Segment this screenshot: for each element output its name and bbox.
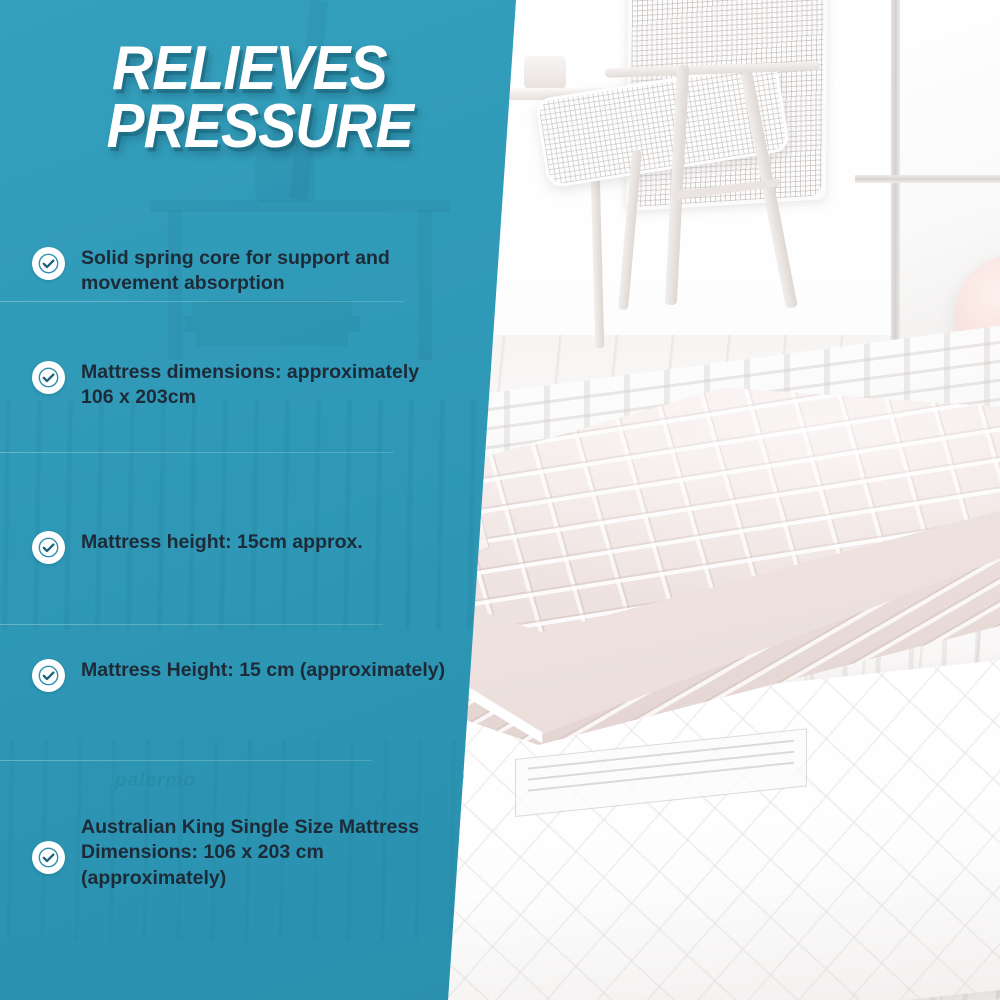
list-item-label: Solid spring core for support and moveme… [81, 246, 451, 297]
list-item-label: Mattress height: 15cm approx. [81, 530, 363, 555]
list-item: Solid spring core for support and moveme… [32, 246, 451, 297]
list-item: Australian King Single Size Mattress Dim… [32, 815, 451, 891]
headline-line-2: PRESSURE [106, 98, 498, 156]
list-item-label: Mattress dimensions: approximately 106 x… [81, 360, 451, 411]
check-circle-icon [32, 531, 65, 564]
check-circle-icon [32, 659, 65, 692]
check-circle-icon [32, 361, 65, 394]
white-armchair [585, 0, 915, 370]
check-circle-icon [32, 247, 65, 280]
table-pot [524, 56, 566, 90]
list-item: Mattress height: 15cm approx. [32, 530, 363, 564]
list-item: Mattress dimensions: approximately 106 x… [32, 360, 451, 411]
page-title: RELIEVES PRESSURE [112, 40, 498, 157]
list-item-label: Mattress Height: 15 cm (approximately) [81, 658, 445, 683]
bullet-divider [0, 624, 382, 625]
list-item: Mattress Height: 15 cm (approximately) [32, 658, 445, 692]
bullet-divider [0, 301, 404, 302]
list-item-label: Australian King Single Size Mattress Dim… [81, 815, 451, 891]
bullet-divider [0, 452, 394, 453]
check-circle-icon [32, 841, 65, 874]
bullet-divider [0, 760, 372, 761]
product-infographic: palermo palermo RELIEVES PRE [0, 0, 1000, 1000]
